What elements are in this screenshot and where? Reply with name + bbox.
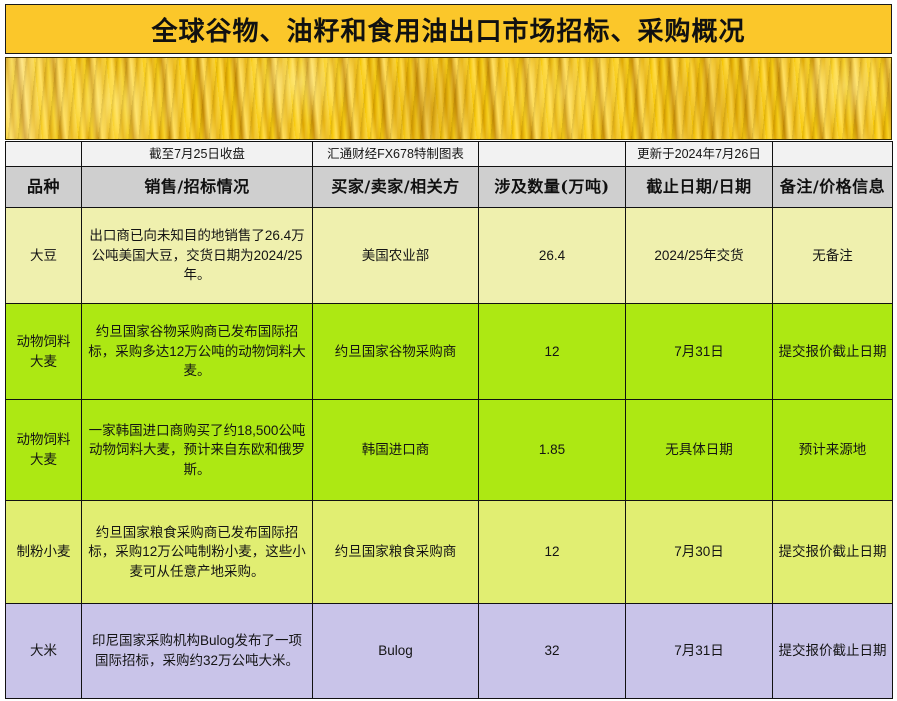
meta-cell-blank-3 [773,142,893,167]
cell-deadline: 7月31日 [626,604,773,699]
cell-note: 提交报价截止日期 [773,304,893,400]
table-row: 动物饲料大麦 一家韩国进口商购买了约18,500公吨动物饲料大麦，预计来自东欧和… [6,400,893,501]
cell-commodity: 大米 [6,604,82,699]
column-header-deadline: 截止日期/日期 [626,167,773,208]
meta-cell-blank-2 [479,142,626,167]
cell-party: 约旦国家谷物采购商 [313,304,479,400]
cell-note: 提交报价截止日期 [773,501,893,604]
cell-description: 一家韩国进口商购买了约18,500公吨动物饲料大麦，预计来自东欧和俄罗斯。 [82,400,313,501]
cell-party: 约旦国家粮食采购商 [313,501,479,604]
cell-note: 无备注 [773,208,893,304]
table-row: 大豆 出口商已向未知目的地销售了26.4万公吨美国大豆，交货日期为2024/25… [6,208,893,304]
cell-quantity: 32 [479,604,626,699]
cell-deadline: 7月31日 [626,304,773,400]
cell-deadline: 无具体日期 [626,400,773,501]
cell-quantity: 12 [479,501,626,604]
cell-commodity: 动物饲料大麦 [6,400,82,501]
meta-cell-source: 汇通财经FX678特制图表 [313,142,479,167]
page-root: 全球谷物、油籽和食用油出口市场招标、采购概况 截至7月25日收盘 汇通财经FX6… [0,0,897,701]
wheat-photo-texture [6,58,891,139]
cell-commodity: 制粉小麦 [6,501,82,604]
meta-cell-as-of: 截至7月25日收盘 [82,142,313,167]
column-header-quantity: 涉及数量(万吨) [479,167,626,208]
cell-deadline: 7月30日 [626,501,773,604]
wheat-photo-banner [5,57,892,140]
cell-quantity: 12 [479,304,626,400]
cell-quantity: 1.85 [479,400,626,501]
cell-party: 韩国进口商 [313,400,479,501]
table-header-row: 品种 销售/招标情况 买家/卖家/相关方 涉及数量(万吨) 截止日期/日期 备注… [6,167,893,208]
meta-cell-blank-1 [6,142,82,167]
column-header-commodity: 品种 [6,167,82,208]
cell-quantity: 26.4 [479,208,626,304]
table-row: 动物饲料大麦 约旦国家谷物采购商已发布国际招标，采购多达12万公吨的动物饲料大麦… [6,304,893,400]
title-banner: 全球谷物、油籽和食用油出口市场招标、采购概况 [5,4,892,54]
table-row: 制粉小麦 约旦国家粮食采购商已发布国际招标，采购12万公吨制粉小麦，这些小麦可从… [6,501,893,604]
table-meta-row: 截至7月25日收盘 汇通财经FX678特制图表 更新于2024年7月26日 [6,142,893,167]
cell-description: 约旦国家谷物采购商已发布国际招标，采购多达12万公吨的动物饲料大麦。 [82,304,313,400]
cell-party: Bulog [313,604,479,699]
cell-note: 预计来源地 [773,400,893,501]
cell-commodity: 动物饲料大麦 [6,304,82,400]
cell-commodity: 大豆 [6,208,82,304]
cell-description: 约旦国家粮食采购商已发布国际招标，采购12万公吨制粉小麦，这些小麦可从任意产地采… [82,501,313,604]
table-row: 大米 印尼国家采购机构Bulog发布了一项国际招标，采购约32万公吨大米。 Bu… [6,604,893,699]
cell-party: 美国农业部 [313,208,479,304]
cell-deadline: 2024/25年交货 [626,208,773,304]
column-header-note: 备注/价格信息 [773,167,893,208]
cell-note: 提交报价截止日期 [773,604,893,699]
column-header-description: 销售/招标情况 [82,167,313,208]
meta-cell-updated: 更新于2024年7月26日 [626,142,773,167]
column-header-party: 买家/卖家/相关方 [313,167,479,208]
tender-table: 截至7月25日收盘 汇通财经FX678特制图表 更新于2024年7月26日 品种… [5,141,893,699]
cell-description: 印尼国家采购机构Bulog发布了一项国际招标，采购约32万公吨大米。 [82,604,313,699]
page-title: 全球谷物、油籽和食用油出口市场招标、采购概况 [151,11,745,48]
cell-description: 出口商已向未知目的地销售了26.4万公吨美国大豆，交货日期为2024/25年。 [82,208,313,304]
